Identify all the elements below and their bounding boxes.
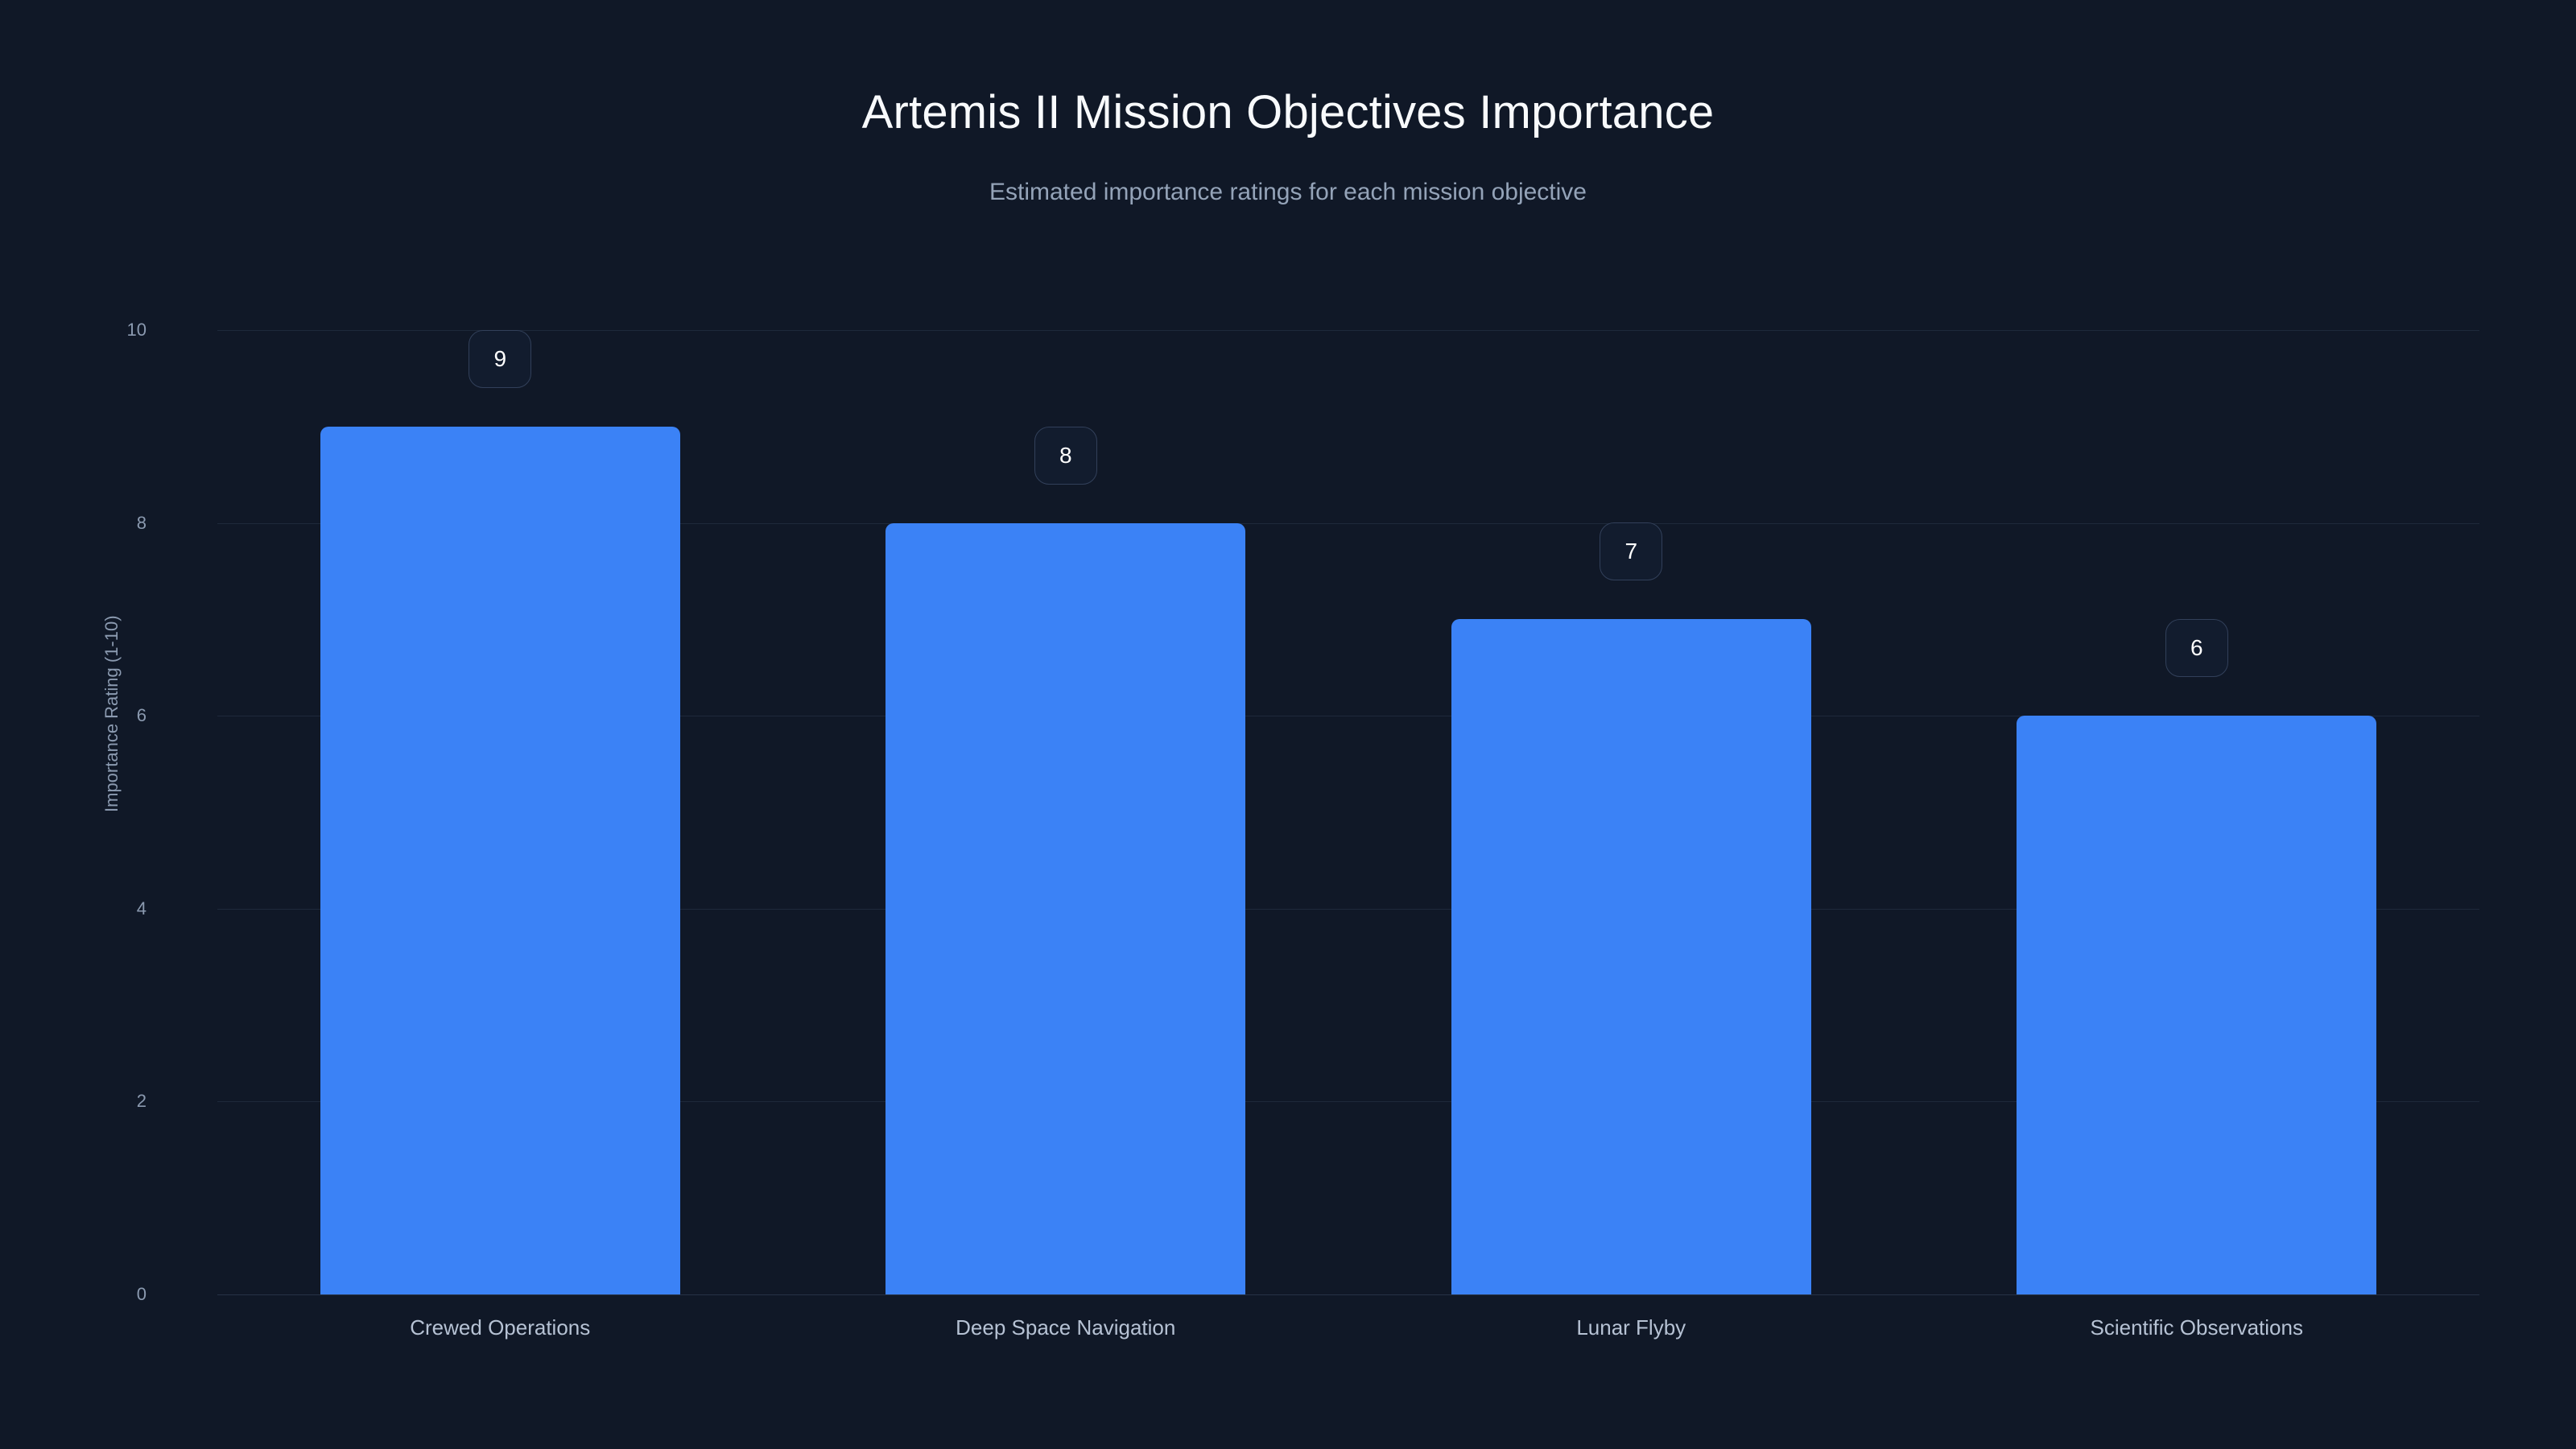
chart-title: Artemis II Mission Objectives Importance	[0, 87, 2576, 138]
bar-value-badge: 9	[469, 330, 531, 388]
bars-layer: 9876	[217, 330, 2479, 1294]
x-tick-label: Crewed Operations	[410, 1317, 590, 1338]
bar[interactable]	[885, 523, 1245, 1294]
x-tick-label: Lunar Flyby	[1576, 1317, 1686, 1338]
y-tick-label-8: 8	[34, 514, 147, 532]
bar-group[interactable]: 7	[1451, 330, 1811, 1294]
bar-group[interactable]: 8	[885, 330, 1245, 1294]
gridline-0	[217, 1294, 2479, 1295]
bar[interactable]	[2017, 716, 2376, 1294]
y-tick-label-0: 0	[34, 1286, 147, 1303]
chart-header: Artemis II Mission Objectives Importance…	[0, 0, 2576, 205]
y-tick-label-10: 10	[34, 321, 147, 339]
y-tick-label-2: 2	[34, 1092, 147, 1110]
y-tick-label-6: 6	[34, 707, 147, 724]
x-axis-labels: Crewed OperationsDeep Space NavigationLu…	[217, 1317, 2479, 1365]
bar-value-badge: 6	[2165, 619, 2228, 677]
bar[interactable]	[320, 427, 680, 1294]
bar-group[interactable]: 9	[320, 330, 680, 1294]
x-tick-label: Scientific Observations	[2091, 1317, 2303, 1338]
x-tick-label: Deep Space Navigation	[956, 1317, 1175, 1338]
bar[interactable]	[1451, 619, 1811, 1294]
chart-subtitle: Estimated importance ratings for each mi…	[0, 179, 2576, 205]
bar-group[interactable]: 6	[2017, 330, 2376, 1294]
bar-value-badge: 7	[1600, 522, 1662, 580]
y-tick-label-4: 4	[34, 900, 147, 918]
bar-value-badge: 8	[1034, 427, 1097, 485]
